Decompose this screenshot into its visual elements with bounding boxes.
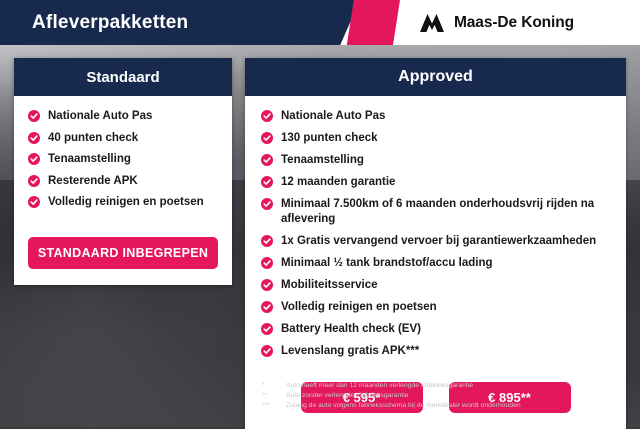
brand-name: Maas-De Koning — [454, 14, 574, 32]
check-circle-icon — [261, 345, 273, 357]
standaard-inbegrepen-button[interactable]: STANDAARD INBEGREPEN — [28, 237, 218, 269]
feature-item: Volledig reinigen en poetsen — [28, 195, 218, 209]
check-circle-icon — [261, 154, 273, 166]
check-circle-icon — [261, 235, 273, 247]
check-circle-icon — [261, 257, 273, 269]
page-header: Afleverpakketten Maas-De Koning — [0, 0, 640, 45]
feature-item: Minimaal ½ tank brandstof/accu lading — [261, 256, 610, 271]
feature-label: Levenslang gratis APK*** — [281, 344, 419, 359]
card-title-standaard: Standaard — [14, 58, 232, 96]
feature-item: 1x Gratis vervangend vervoer bij garanti… — [261, 234, 610, 249]
check-circle-icon — [261, 301, 273, 313]
package-card-standaard: Standaard Nationale Auto Pas40 punten ch… — [14, 58, 232, 285]
check-circle-icon — [28, 132, 40, 144]
check-circle-icon — [261, 110, 273, 122]
footnote-text: Auto heeft meer dan 12 maanden verlengde… — [286, 381, 473, 391]
check-circle-icon — [261, 279, 273, 291]
feature-item: 12 maanden garantie — [261, 175, 610, 190]
check-circle-icon — [261, 176, 273, 188]
feature-label: Mobiliteitsservice — [281, 278, 378, 293]
footnote-row: ***Zolang de auto volgens fabrieksschema… — [262, 401, 632, 411]
footnotes: *Auto heeft meer dan 12 maanden verlengd… — [262, 381, 632, 411]
feature-label: 130 punten check — [281, 131, 378, 146]
footnote-text: Zolang de auto volgens fabrieksschema bi… — [286, 401, 521, 411]
feature-item: Volledig reinigen en poetsen — [261, 300, 610, 315]
feature-item: Levenslang gratis APK*** — [261, 344, 610, 359]
page-title: Afleverpakketten — [32, 0, 188, 45]
check-circle-icon — [261, 323, 273, 335]
feature-item: Nationale Auto Pas — [28, 109, 218, 123]
feature-label: Minimaal 7.500km of 6 maanden onderhouds… — [281, 197, 610, 227]
maas-de-koning-m-logo-icon — [419, 13, 445, 33]
feature-label: 1x Gratis vervangend vervoer bij garanti… — [281, 234, 596, 249]
feature-label: Volledig reinigen en poetsen — [281, 300, 437, 315]
footnote-marker: *** — [262, 401, 286, 411]
feature-label: Resterende APK — [48, 174, 138, 188]
feature-label: Tenaamstelling — [48, 152, 131, 166]
card-title-approved: Approved — [245, 58, 626, 96]
package-card-approved: Approved Nationale Auto Pas130 punten ch… — [245, 58, 626, 429]
feature-item: Tenaamstelling — [261, 153, 610, 168]
feature-item: Battery Health check (EV) — [261, 322, 610, 337]
feature-label: 40 punten check — [48, 131, 138, 145]
feature-item: Tenaamstelling — [28, 152, 218, 166]
feature-label: Volledig reinigen en poetsen — [48, 195, 204, 209]
feature-item: 130 punten check — [261, 131, 610, 146]
footnote-marker: * — [262, 381, 286, 391]
feature-item: Mobiliteitsservice — [261, 278, 610, 293]
feature-label: Nationale Auto Pas — [48, 109, 152, 123]
feature-item: Minimaal 7.500km of 6 maanden onderhouds… — [261, 197, 610, 227]
check-circle-icon — [261, 132, 273, 144]
card-body-standaard: Nationale Auto Pas40 punten checkTenaams… — [14, 96, 232, 231]
feature-list-approved: Nationale Auto Pas130 punten checkTenaam… — [261, 109, 610, 359]
footnote-row: *Auto heeft meer dan 12 maanden verlengd… — [262, 381, 632, 391]
footnote-row: **Auto zonder verlengde / fabrieksgarant… — [262, 391, 632, 401]
feature-label: 12 maanden garantie — [281, 175, 395, 190]
feature-item: Nationale Auto Pas — [261, 109, 610, 124]
feature-label: Nationale Auto Pas — [281, 109, 385, 124]
footnote-text: Auto zonder verlengde / fabrieksgarantie — [286, 391, 408, 401]
card-body-approved: Nationale Auto Pas130 punten checkTenaam… — [245, 96, 626, 376]
feature-item: 40 punten check — [28, 131, 218, 145]
feature-label: Battery Health check (EV) — [281, 322, 421, 337]
feature-item: Resterende APK — [28, 174, 218, 188]
check-circle-icon — [28, 110, 40, 122]
brand-logo: Maas-De Koning — [419, 0, 574, 45]
check-circle-icon — [28, 196, 40, 208]
feature-label: Minimaal ½ tank brandstof/accu lading — [281, 256, 493, 271]
check-circle-icon — [28, 175, 40, 187]
standaard-button-wrap: STANDAARD INBEGREPEN — [14, 231, 232, 285]
check-circle-icon — [28, 153, 40, 165]
feature-list-standaard: Nationale Auto Pas40 punten checkTenaams… — [28, 109, 218, 209]
footnote-marker: ** — [262, 391, 286, 401]
feature-label: Tenaamstelling — [281, 153, 364, 168]
check-circle-icon — [261, 198, 273, 210]
